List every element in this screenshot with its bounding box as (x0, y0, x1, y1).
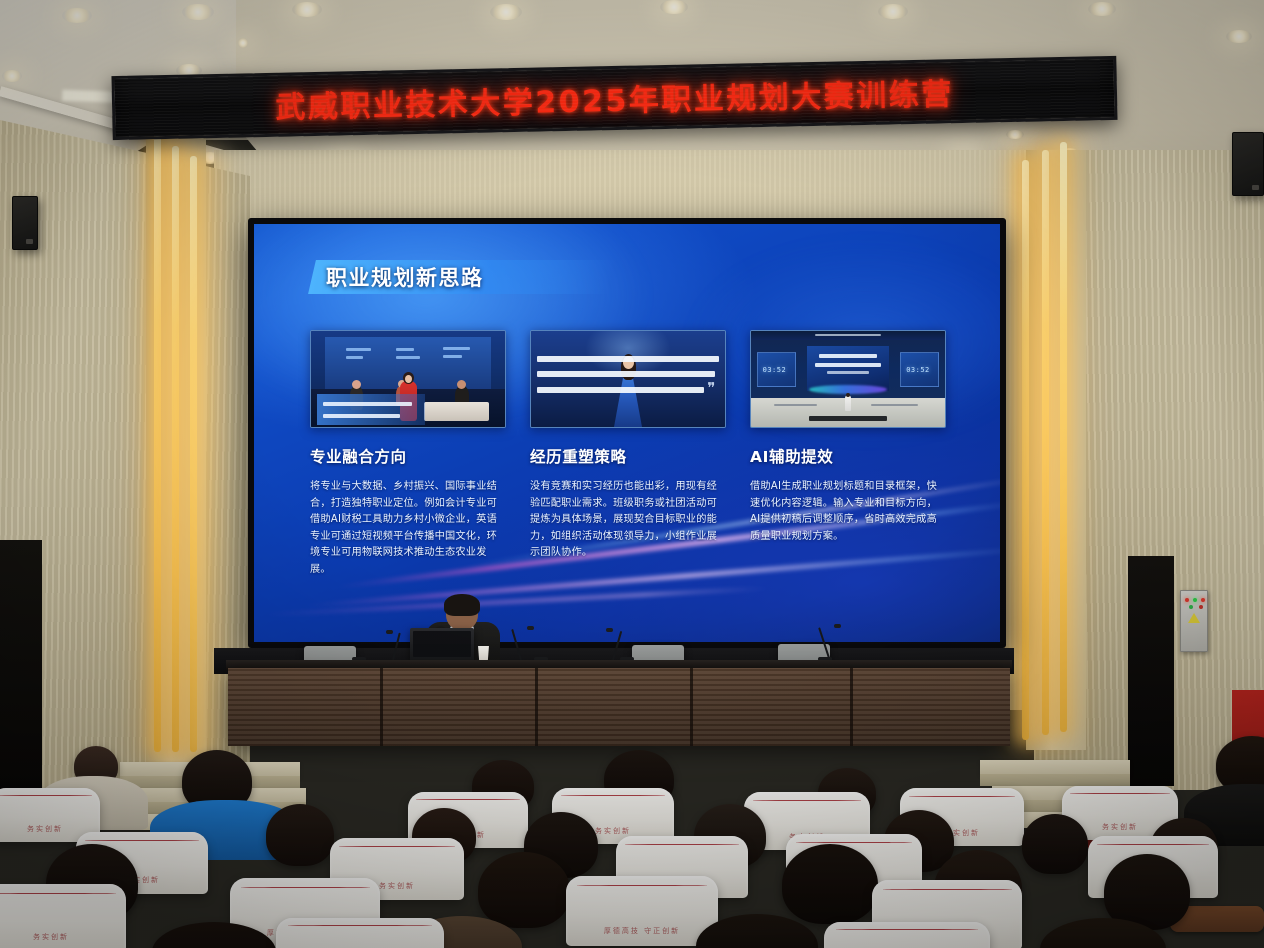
countdown-right: 03:52 (906, 366, 930, 374)
stage-talk-red-dress-thumbnail (310, 330, 506, 428)
wall-speaker-icon (12, 196, 38, 250)
downlight-icon (490, 4, 522, 20)
downlight-icon (238, 38, 248, 48)
seat-cover-text: 务实创新 (0, 932, 126, 942)
downlight-icon (2, 70, 22, 82)
slide-column-3-heading: AI辅助提效 (750, 445, 946, 467)
downlight-icon (1088, 2, 1116, 16)
audience-area: 务实创新 务实创新 务实创新 务实创新 务实创新 务实创新 务实创新 务实创新 (0, 726, 1264, 948)
slide-column-1-body: 将专业与大数据、乡村振兴、国际事业结合，打造独特职业定位。例如会计专业可借助AI… (310, 479, 506, 578)
microphone-head-icon (834, 624, 841, 628)
wall-speaker-icon (1232, 132, 1264, 196)
presenter-laptop (410, 628, 474, 660)
wall-led-strip (1042, 150, 1049, 735)
microphone-head-icon (606, 628, 613, 632)
indicator-led-red (1185, 598, 1189, 602)
slide-column-3-body: 借助AI生成职业规划标题和目录框架，快速优化内容逻辑。输入专业和目标方向，AI提… (750, 479, 946, 545)
slide-column-1-heading: 专业融合方向 (310, 445, 506, 467)
downlight-icon (182, 4, 214, 20)
indicator-led-green (1189, 605, 1193, 609)
auditorium-photo: 武威职业技术大学2025年职业规划大赛训练营 职业规划新思路 (0, 0, 1264, 948)
audience-head (782, 844, 878, 924)
microphone-head-icon (386, 630, 393, 634)
electrical-control-panel[interactable] (1180, 590, 1208, 652)
indicator-led-red (1201, 598, 1205, 602)
indicator-led-red (1199, 605, 1203, 609)
national-finals-stage-thumbnail: 03:52 03:52 (750, 330, 946, 428)
slide-column-2-heading: 经历重塑策略 (530, 445, 726, 467)
microphone-head-icon (527, 626, 534, 630)
seat-cover-text: 厚德高技 守正创新 (566, 926, 718, 936)
slide-column-3: 03:52 03:52 AI辅助提效 借助AI生成职业规划标题和目录框架，快速优… (750, 330, 946, 578)
downlight-icon (1006, 130, 1024, 139)
warning-triangle-icon (1188, 613, 1200, 623)
slide-column-2-body: 没有竞赛和实习经历也能出彩，用现有经验匹配职业需求。班级职务或社团活动可提炼为具… (530, 479, 726, 562)
downlight-icon (660, 0, 688, 14)
wall-led-strip (172, 146, 179, 752)
presentation-screen-bezel: 职业规划新思路 (248, 218, 1006, 648)
audience-head (478, 852, 570, 928)
presentation-slide: 职业规划新思路 (254, 224, 1000, 642)
downlight-icon (878, 4, 908, 19)
downlight-icon (62, 8, 92, 23)
downlight-icon (1226, 30, 1252, 43)
audience-seat: 务实创新 (0, 884, 126, 948)
audience-seat: 厚德高技 守正创新 (566, 876, 718, 946)
downlight-icon (292, 2, 322, 17)
slide-column-2: ❞ 经历重塑策略 没有竞赛和实习经历也能出彩，用现有经验匹配职业需求。班级职务或… (530, 330, 726, 578)
wall-led-strip (154, 136, 161, 752)
wall-led-strip (1060, 142, 1067, 732)
led-banner-text: 武威职业技术大学2025年职业规划大赛训练营 (115, 66, 1115, 130)
thumbnail-caption-overlay (317, 394, 426, 425)
countdown-left: 03:52 (763, 366, 787, 374)
audience-seat: 务实创新 (276, 918, 444, 948)
wall-led-strip (1022, 160, 1029, 740)
indicator-led-green (1193, 598, 1197, 602)
audience-head (1022, 814, 1088, 874)
slide-title: 职业规划新思路 (326, 262, 484, 292)
slide-columns: 专业融合方向 将专业与大数据、乡村振兴、国际事业结合，打造独特职业定位。例如会计… (310, 330, 960, 578)
slide-column-1: 专业融合方向 将专业与大数据、乡村振兴、国际事业结合，打造独特职业定位。例如会计… (310, 330, 506, 578)
blue-dress-speaker-thumbnail: ❞ (530, 330, 726, 428)
audience-head (266, 804, 334, 866)
audience-seat: 务实创新 (824, 922, 990, 948)
